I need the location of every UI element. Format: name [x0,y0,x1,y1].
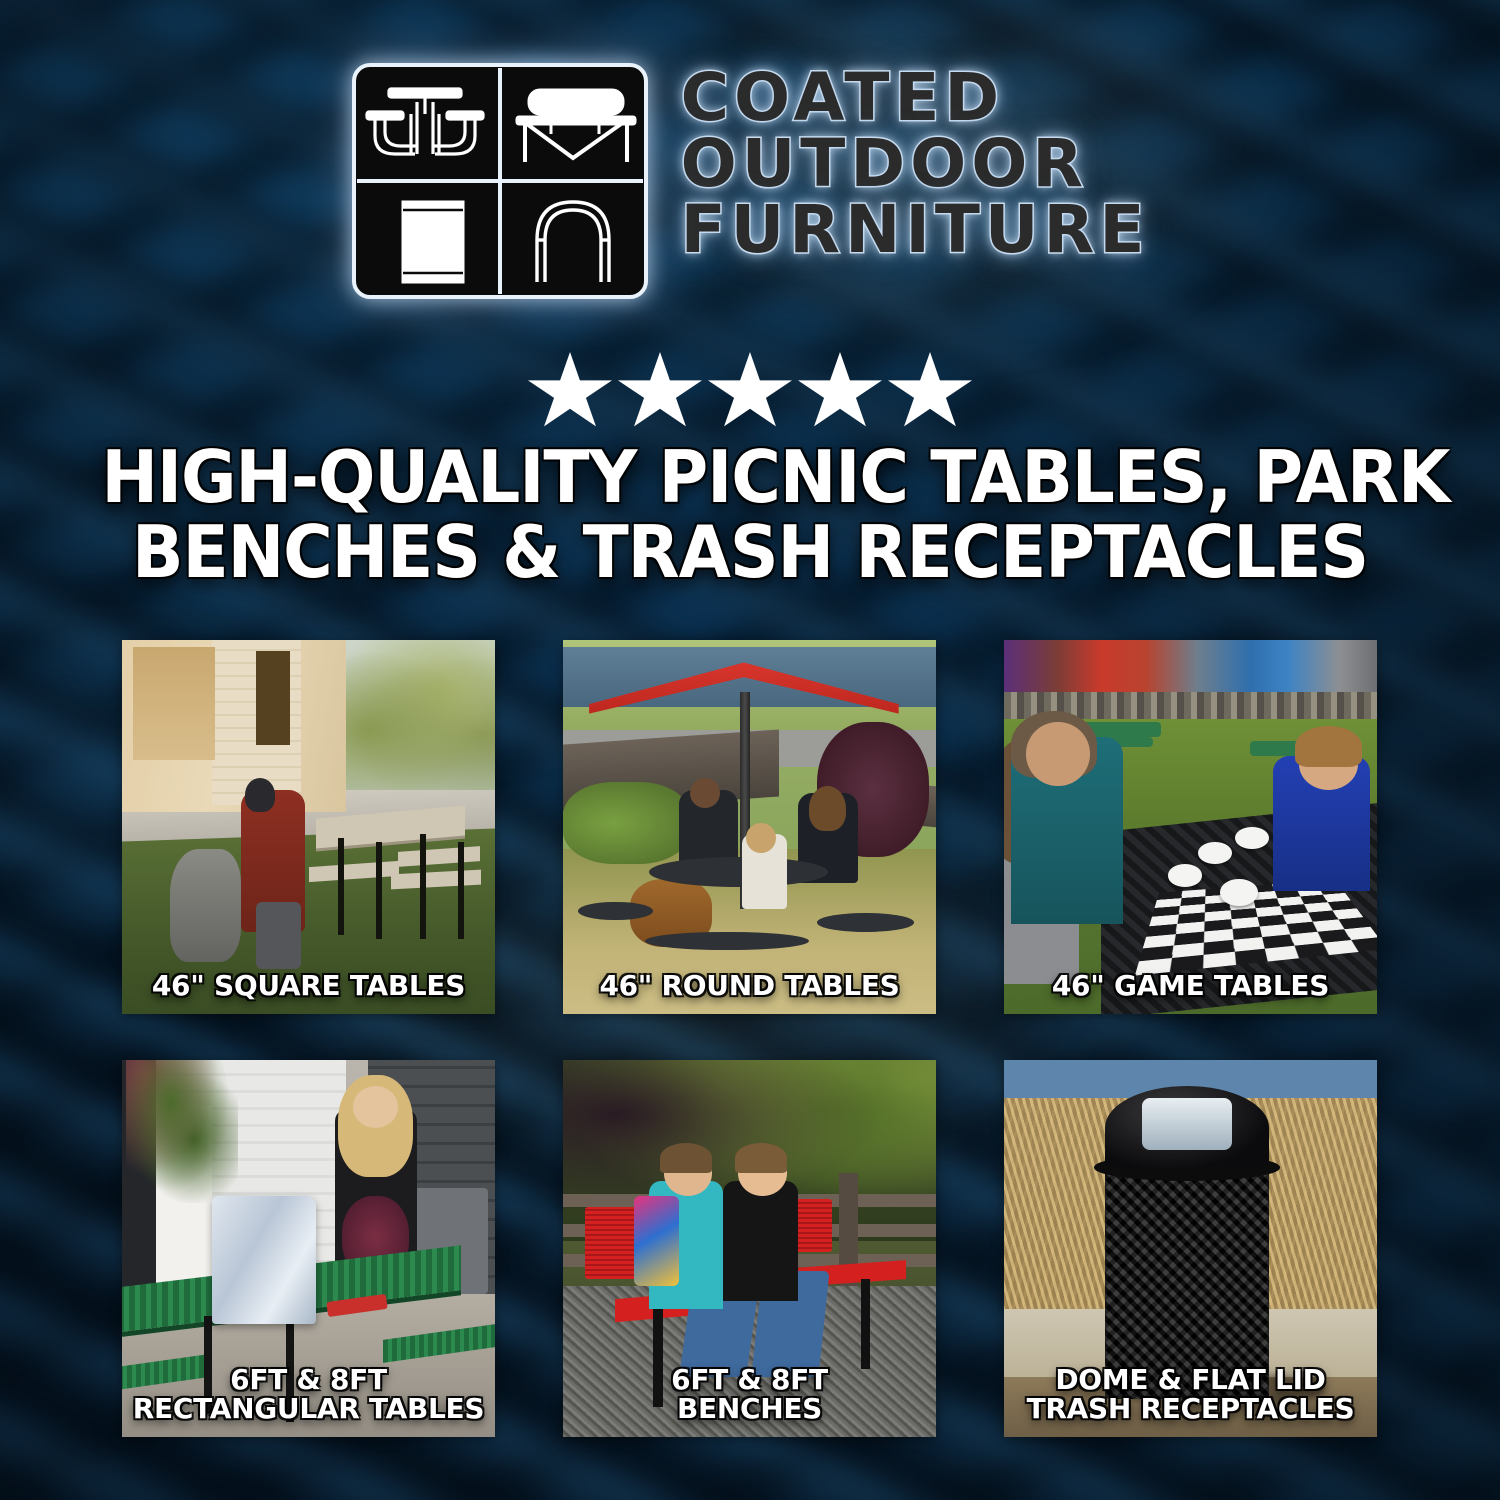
product-photo-square-tables [122,640,495,1014]
product-photo-round-tables [563,640,936,1014]
star-rating [0,352,1500,432]
brand-wordmark: COATED OUTDOOR FURNITURE [681,62,1150,262]
star-icon [618,352,702,432]
product-caption-line-1: 6FT & 8FT [671,1363,828,1396]
page-title: HIGH-QUALITY PICNIC TABLES, PARK BENCHES… [101,440,1398,590]
product-tile-trash-receptacles[interactable]: DOME & FLAT LID TRASH RECEPTACLES [1004,1060,1377,1437]
promo-banner: COATED OUTDOOR FURNITURE HIGH-QUALITY PI… [0,0,1500,1500]
headline-line-1: HIGH-QUALITY PICNIC TABLES, PARK [101,440,1398,515]
brand-name-line-3: FURNITURE [681,198,1150,262]
brand-name-line-1: COATED [681,66,1150,130]
product-tile-rectangular-tables[interactable]: 6FT & 8FT RECTANGULAR TABLES [122,1060,495,1437]
product-caption: 46" GAME TABLES [1012,971,1369,1000]
product-caption-line-2: BENCHES [571,1394,928,1423]
star-icon [708,352,792,432]
product-tile-benches[interactable]: 6FT & 8FT BENCHES [563,1060,936,1437]
product-tile-square-tables[interactable]: 46" SQUARE TABLES [122,640,495,1014]
product-caption-line-2: RECTANGULAR TABLES [130,1394,487,1423]
product-caption-line-1: 6FT & 8FT [230,1363,387,1396]
product-caption: 46" SQUARE TABLES [130,971,487,1000]
product-caption-line-1: 46" GAME TABLES [1052,969,1329,1002]
product-caption-line-1: 46" ROUND TABLES [599,969,899,1002]
product-caption-line-2: TRASH RECEPTACLES [1012,1394,1369,1423]
product-grid: 46" SQUARE TABLES [122,640,1378,1437]
brand-logo[interactable]: COATED OUTDOOR FURNITURE [0,62,1500,300]
product-caption-line-1: 46" SQUARE TABLES [152,969,465,1002]
product-caption: DOME & FLAT LID TRASH RECEPTACLES [1012,1365,1369,1423]
product-caption: 6FT & 8FT RECTANGULAR TABLES [130,1365,487,1423]
product-photo-game-tables [1004,640,1377,1014]
product-caption: 46" ROUND TABLES [571,971,928,1000]
product-tile-round-tables[interactable]: 46" ROUND TABLES [563,640,936,1014]
star-icon [528,352,612,432]
brand-name-line-2: OUTDOOR [681,132,1150,196]
star-icon [798,352,882,432]
product-caption: 6FT & 8FT BENCHES [571,1365,928,1423]
product-tile-game-tables[interactable]: 46" GAME TABLES [1004,640,1377,1014]
product-caption-line-1: DOME & FLAT LID [1055,1363,1325,1396]
headline-line-2: BENCHES & TRASH RECEPTACLES [101,515,1398,590]
star-icon [888,352,972,432]
four-quadrant-furniture-logo-icon [351,62,649,300]
